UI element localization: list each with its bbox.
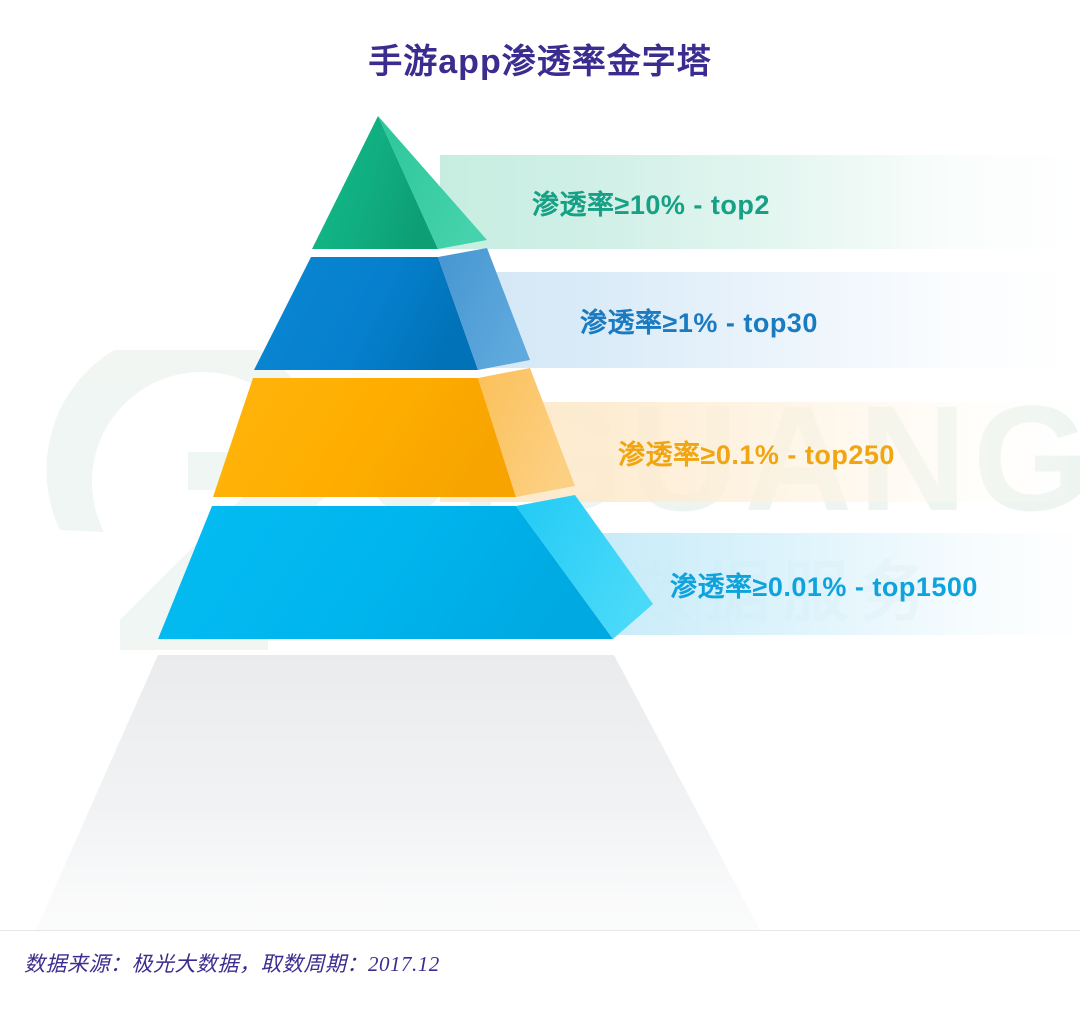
pyramid-graphic xyxy=(0,0,1080,1026)
tier-label-band-3: 渗透率≥0.01% - top1500 xyxy=(440,533,1080,635)
tier-label-band-2: 渗透率≥0.1% - top250 xyxy=(440,402,1080,502)
page-title: 手游app渗透率金字塔 xyxy=(0,34,1080,83)
pyramid-chart xyxy=(0,0,1080,1026)
tier-label-text-2: 渗透率≥0.1% - top250 xyxy=(440,433,895,472)
tier-label-text-1: 渗透率≥1% - top30 xyxy=(440,301,818,340)
infographic-page: 手游app渗透率金字塔 JIGUANG 极光 数据服务 渗透率≥10% - to… xyxy=(0,0,1080,1026)
footer-divider xyxy=(0,930,1080,931)
tier-label-text-3: 渗透率≥0.01% - top1500 xyxy=(440,565,978,604)
pyramid-reflection xyxy=(36,655,760,930)
tier-label-text-0: 渗透率≥10% - top2 xyxy=(440,183,770,222)
tier-label-band-0: 渗透率≥10% - top2 xyxy=(440,155,1080,249)
jiguang-logo-mark xyxy=(46,350,330,650)
tier-label-band-1: 渗透率≥1% - top30 xyxy=(440,272,1080,368)
data-source-note: 数据来源：极光大数据，取数周期：2017.12 xyxy=(24,948,440,978)
